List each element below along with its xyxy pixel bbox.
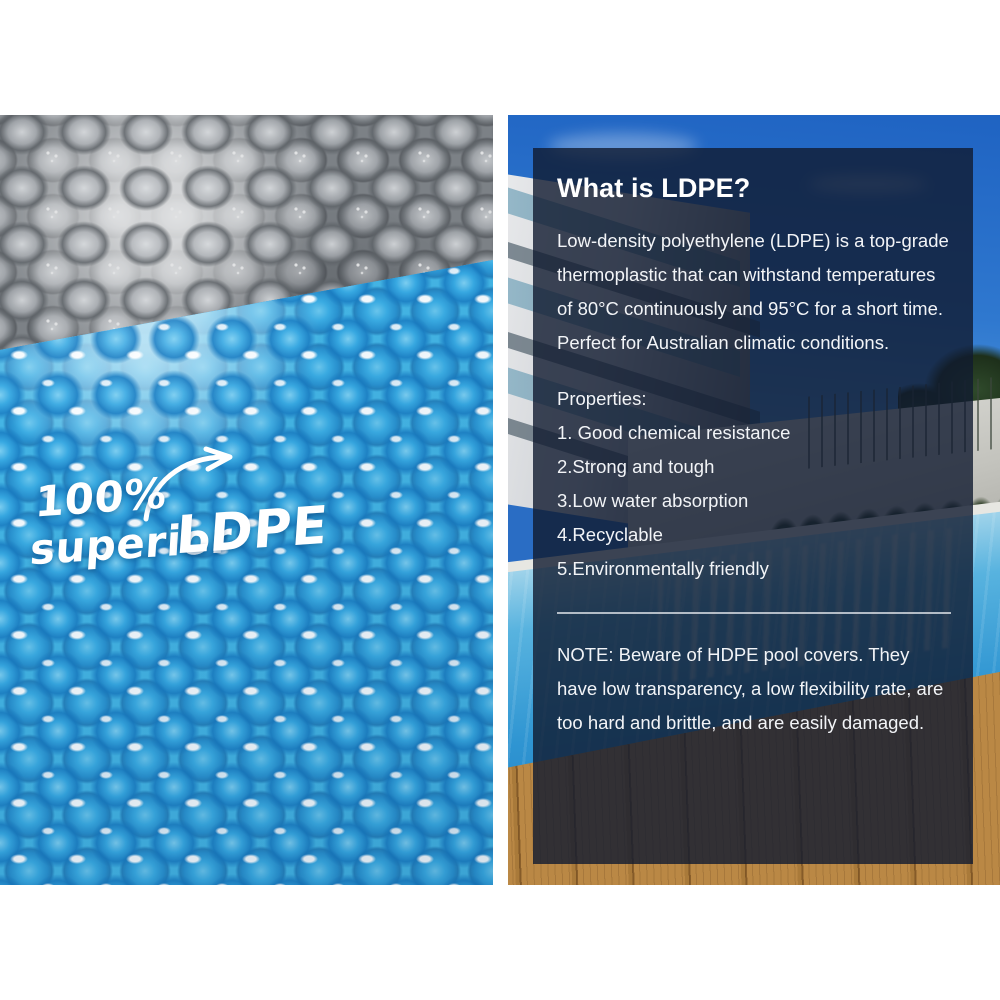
page-title: What is LDPE?	[557, 174, 951, 204]
info-card: What is LDPE? Low-density polyethylene (…	[533, 148, 973, 864]
list-item: 5.Environmentally friendly	[557, 552, 951, 586]
list-item: 4.Recyclable	[557, 518, 951, 552]
left-image-panel: 100% superior LDPE	[0, 115, 493, 885]
list-item: 3.Low water absorption	[557, 484, 951, 518]
handwriting-ldpe: LDPE	[174, 495, 330, 566]
product-infographic: 100% superior LDPE W	[0, 0, 1000, 1000]
note-text: NOTE: Beware of HDPE pool covers. They h…	[557, 638, 951, 740]
list-item: 2.Strong and tough	[557, 450, 951, 484]
list-item: 1. Good chemical resistance	[557, 416, 951, 450]
description-paragraph: Low-density polyethylene (LDPE) is a top…	[557, 224, 951, 360]
right-image-panel: What is LDPE? Low-density polyethylene (…	[508, 115, 1000, 885]
properties-list: 1. Good chemical resistance 2.Strong and…	[557, 416, 951, 586]
properties-heading: Properties:	[557, 382, 951, 416]
section-divider	[557, 612, 951, 614]
